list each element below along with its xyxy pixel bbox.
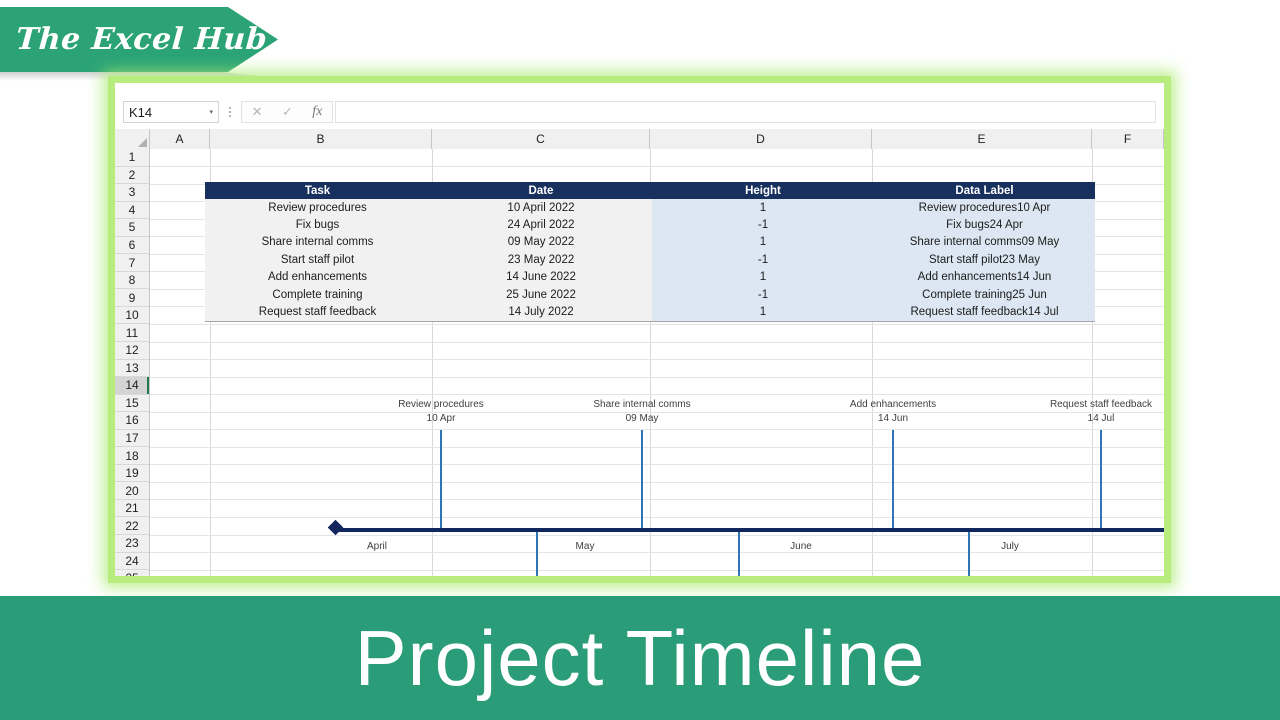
month-tick-label: May [525, 541, 645, 552]
cell-task[interactable]: Share internal comms [205, 234, 430, 251]
th-height: Height [652, 182, 874, 199]
month-tick-label: June [741, 541, 861, 552]
milestone-task: Review procedures [341, 398, 541, 412]
row-header-13[interactable]: 13 [115, 360, 149, 378]
month-tick-label: August [1130, 541, 1164, 552]
chevron-down-icon[interactable]: ▾ [209, 108, 213, 116]
timeline-chart: Review procedures10 AprFix bugs24 AprSha… [150, 323, 1164, 576]
cell-task[interactable]: Request staff feedback [205, 303, 430, 321]
cell-date[interactable]: 14 June 2022 [430, 269, 652, 286]
timeline-axis [336, 528, 1164, 532]
row-header-18[interactable]: 18 [115, 447, 149, 465]
cell-label[interactable]: Share internal comms09 May [874, 234, 1095, 251]
formula-bar-row: K14 ▾ ✕ ✓ fx [115, 97, 1164, 127]
cell-date[interactable]: 14 July 2022 [430, 303, 652, 321]
row-header-23[interactable]: 23 [115, 535, 149, 553]
table-row[interactable]: Complete training25 June 2022-1Complete … [205, 286, 1095, 303]
column-header-f[interactable]: F [1092, 129, 1164, 149]
milestone-stem [641, 430, 643, 528]
row-header-7[interactable]: 7 [115, 254, 149, 272]
month-tick-label: April [317, 541, 437, 552]
row-header-5[interactable]: 5 [115, 219, 149, 237]
cell-task[interactable]: Complete training [205, 286, 430, 303]
milestone-label: Review procedures10 Apr [341, 398, 541, 425]
th-date: Date [430, 182, 652, 199]
row-header-12[interactable]: 12 [115, 342, 149, 360]
cell-date[interactable]: 25 June 2022 [430, 286, 652, 303]
cell-task[interactable]: Review procedures [205, 199, 430, 216]
cell-label[interactable]: Add enhancements14 Jun [874, 269, 1095, 286]
logo-text: The Excel Hub [0, 22, 268, 57]
insert-function-icon[interactable]: fx [312, 104, 322, 120]
cell-date[interactable]: 23 May 2022 [430, 251, 652, 268]
name-box[interactable]: K14 ▾ [123, 101, 219, 123]
row-header-10[interactable]: 10 [115, 307, 149, 325]
th-label: Data Label [874, 182, 1095, 199]
milestone-label: Add enhancements14 Jun [793, 398, 993, 425]
column-header-e[interactable]: E [872, 129, 1092, 149]
column-header-a[interactable]: A [150, 129, 210, 149]
cell-height[interactable]: -1 [652, 251, 874, 268]
milestone-stem [968, 532, 970, 576]
cell-task[interactable]: Add enhancements [205, 269, 430, 286]
milestone-task: Request staff feedback [1001, 398, 1164, 412]
row-header-22[interactable]: 22 [115, 517, 149, 535]
logo-banner: The Excel Hub [0, 7, 278, 72]
row-header-11[interactable]: 11 [115, 324, 149, 342]
page-title: Project Timeline [355, 613, 926, 704]
cell-date[interactable]: 09 May 2022 [430, 234, 652, 251]
cell-height[interactable]: -1 [652, 286, 874, 303]
milestone-stem [440, 430, 442, 528]
table-header-row: Task Date Height Data Label [205, 182, 1095, 199]
row-header-14[interactable]: 14 [115, 377, 149, 395]
milestone-stem [892, 430, 894, 528]
row-header-8[interactable]: 8 [115, 272, 149, 290]
milestone-date: 10 Apr [341, 412, 541, 426]
column-header-row: ABCDEF [115, 129, 1164, 150]
row-header-3[interactable]: 3 [115, 184, 149, 202]
cell-height[interactable]: 1 [652, 269, 874, 286]
milestone-task: Share internal comms [542, 398, 742, 412]
milestone-date: 14 Jun [793, 412, 993, 426]
row-header-16[interactable]: 16 [115, 412, 149, 430]
milestone-stem [738, 532, 740, 576]
data-table: Task Date Height Data Label Review proce… [205, 182, 1095, 322]
table-row[interactable]: Fix bugs24 April 2022-1Fix bugs24 Apr [205, 216, 1095, 233]
column-header-c[interactable]: C [432, 129, 650, 149]
row-header-21[interactable]: 21 [115, 500, 149, 518]
table-row[interactable]: Review procedures10 April 20221Review pr… [205, 199, 1095, 216]
cell-height[interactable]: -1 [652, 216, 874, 233]
table-row[interactable]: Add enhancements14 June 20221Add enhance… [205, 269, 1095, 286]
row-header-19[interactable]: 19 [115, 465, 149, 483]
row-header-17[interactable]: 17 [115, 430, 149, 448]
name-box-value: K14 [129, 105, 152, 120]
column-header-d[interactable]: D [650, 129, 872, 149]
cell-label[interactable]: Review procedures10 Apr [874, 199, 1095, 216]
cell-height[interactable]: 1 [652, 303, 874, 321]
row-header-6[interactable]: 6 [115, 237, 149, 255]
row-header-20[interactable]: 20 [115, 482, 149, 500]
axis-start-diamond-icon [328, 520, 344, 536]
table-row[interactable]: Share internal comms09 May 20221Share in… [205, 234, 1095, 251]
row-header-24[interactable]: 24 [115, 553, 149, 571]
row-header-2[interactable]: 2 [115, 167, 149, 185]
grid-line-horizontal [150, 166, 1164, 167]
cell-label[interactable]: Complete training25 Jun [874, 286, 1095, 303]
excel-window: K14 ▾ ✕ ✓ fx ABCDEF 12345678910111213141… [115, 83, 1164, 576]
row-header-column: 1234567891011121314151617181920212223242… [115, 149, 150, 576]
table-row[interactable]: Start staff pilot23 May 2022-1Start staf… [205, 251, 1095, 268]
cell-date[interactable]: 10 April 2022 [430, 199, 652, 216]
formula-bar-buttons: ✕ ✓ fx [241, 101, 333, 123]
cell-date[interactable]: 24 April 2022 [430, 216, 652, 233]
formula-input[interactable] [335, 101, 1156, 123]
cell-label[interactable]: Start staff pilot23 May [874, 251, 1095, 268]
cell-label[interactable]: Request staff feedback14 Jul [874, 303, 1095, 321]
cell-label[interactable]: Fix bugs24 Apr [874, 216, 1095, 233]
milestone-date: 09 May [542, 412, 742, 426]
th-task: Task [205, 182, 430, 199]
milestone-stem [1100, 430, 1102, 528]
milestone-label: Request staff feedback14 Jul [1001, 398, 1164, 425]
select-all-corner[interactable] [115, 129, 150, 149]
milestone-task: Add enhancements [793, 398, 993, 412]
row-header-15[interactable]: 15 [115, 395, 149, 413]
column-header-b[interactable]: B [210, 129, 432, 149]
milestone-stem [536, 532, 538, 576]
confirm-icon[interactable]: ✓ [282, 104, 293, 120]
milestone-label: Share internal comms09 May [542, 398, 742, 425]
table-row[interactable]: Request staff feedback14 July 20221Reque… [205, 303, 1095, 321]
row-header-1[interactable]: 1 [115, 149, 149, 167]
row-header-9[interactable]: 9 [115, 289, 149, 307]
cell-height[interactable]: 1 [652, 199, 874, 216]
row-header-4[interactable]: 4 [115, 202, 149, 220]
bottom-banner: Project Timeline [0, 596, 1280, 720]
milestone-date: 14 Jul [1001, 412, 1164, 426]
cell-task[interactable]: Start staff pilot [205, 251, 430, 268]
cell-height[interactable]: 1 [652, 234, 874, 251]
more-options-icon[interactable] [219, 101, 241, 123]
cell-task[interactable]: Fix bugs [205, 216, 430, 233]
cancel-icon[interactable]: ✕ [252, 104, 263, 120]
month-tick-label: July [950, 541, 1070, 552]
row-header-25[interactable]: 25 [115, 570, 149, 576]
